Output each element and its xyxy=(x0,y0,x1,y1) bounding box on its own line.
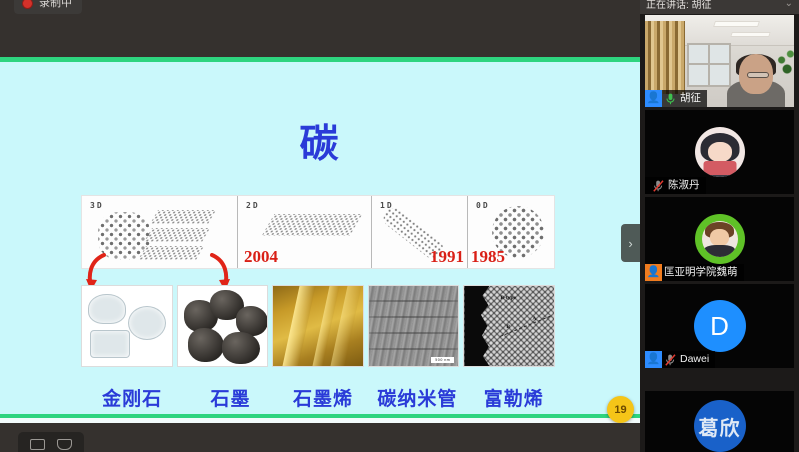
active-speaker-label: 正在讲话: 胡征 xyxy=(646,1,712,11)
participant-tile[interactable]: 陈淑丹 xyxy=(645,110,794,194)
participant-tile[interactable]: 👤 匡亚明学院魏萌 xyxy=(645,197,794,281)
dimension-cell-0d: 0D 1985 xyxy=(468,196,554,268)
person-icon: 👤 xyxy=(645,264,662,281)
graphite-sheet-icon xyxy=(138,246,204,260)
diamond-photo xyxy=(81,285,173,367)
avatar xyxy=(695,214,745,264)
dimension-tag-3d: 3D xyxy=(90,201,104,210)
participant-name: 陈淑丹 xyxy=(666,180,706,191)
participant-tile[interactable]: 葛欣 xyxy=(645,391,794,452)
participant-tile[interactable]: D 👤 Dawei xyxy=(645,284,794,368)
person-icon: 👤 xyxy=(645,351,662,368)
participant-name: Dawei xyxy=(678,354,715,365)
avatar-initial: D xyxy=(710,311,729,342)
active-speaker-bar: 正在讲话: 胡征 ⌄ xyxy=(640,0,799,14)
toolbar-controls-group[interactable] xyxy=(18,432,84,452)
participant-name-badge: 👤 胡征 xyxy=(645,90,707,107)
recording-indicator[interactable]: 录制中 xyxy=(14,0,82,14)
person-icon: 👤 xyxy=(645,90,662,107)
discovery-year-2d: 2004 xyxy=(244,247,278,267)
participant-name-badge: 👤 匡亚明学院魏萌 xyxy=(645,264,744,281)
fullerene-stm-image: B-type B A xyxy=(463,285,555,367)
microphone-icon[interactable] xyxy=(57,439,72,450)
dimension-tag-2d: 2D xyxy=(246,201,260,210)
stm-label-b: B xyxy=(506,324,510,330)
graphene-afm-image xyxy=(272,285,364,367)
discovery-year-1d: 1991 xyxy=(430,247,464,267)
collapse-panel-button[interactable]: › xyxy=(621,224,640,262)
avatar: D xyxy=(694,300,746,352)
microphone-muted-icon xyxy=(662,354,678,366)
microphone-muted-icon xyxy=(650,180,666,192)
graphene-sheet-icon xyxy=(262,214,363,236)
participant-name-badge: 陈淑丹 xyxy=(645,177,706,194)
avatar: 葛欣 xyxy=(694,400,746,452)
graphite-sheet-icon xyxy=(150,210,216,224)
avatar-initial: 葛欣 xyxy=(699,412,741,441)
participant-name: 匡亚明学院魏萌 xyxy=(662,267,744,278)
meeting-toolbar xyxy=(0,423,640,452)
material-label-fullerene: 富勒烯 xyxy=(467,384,561,411)
recording-dot-icon xyxy=(22,0,33,9)
meeting-window: 录制中 碳 3D 2D 2004 xyxy=(0,0,799,452)
participant-tile[interactable]: 👤 胡征 xyxy=(645,15,794,107)
material-photo-strip: 500 nm B-type B A xyxy=(81,285,555,367)
avatar xyxy=(695,127,745,177)
carbon-nanotube-sem-image: 500 nm xyxy=(368,285,460,367)
participant-panel: 正在讲话: 胡征 ⌄ xyxy=(640,0,799,452)
material-label-row: 金刚石 石墨 石墨烯 碳纳米管 富勒烯 xyxy=(81,382,561,412)
slide-title: 碳 xyxy=(0,125,640,164)
slide-top-accent-bar xyxy=(0,57,640,62)
carbon-dimensionality-figure: 3D 2D 2004 1D 1991 0D xyxy=(81,195,555,269)
sem-scale-bar-label: 500 nm xyxy=(431,357,454,363)
shared-screen-area: 录制中 碳 3D 2D 2004 xyxy=(0,0,640,452)
material-label-diamond: 金刚石 xyxy=(81,384,183,411)
graphite-photo xyxy=(177,285,269,367)
participant-name: 胡征 xyxy=(678,93,707,104)
chevron-right-icon: › xyxy=(628,236,632,251)
video-camera-icon[interactable] xyxy=(30,439,45,450)
microphone-unmuted-icon xyxy=(662,93,678,105)
stm-label-btype: B-type xyxy=(500,295,516,301)
discovery-year-0d: 1985 xyxy=(471,247,505,267)
dimension-cell-1d: 1D 1991 xyxy=(372,196,468,268)
slide-page-number-badge: 19 xyxy=(607,396,634,423)
dimension-cell-2d: 2D 2004 xyxy=(238,196,372,268)
material-label-nanotube: 碳纳米管 xyxy=(368,384,466,411)
recording-label: 录制中 xyxy=(39,0,72,9)
graphite-sheet-icon xyxy=(144,228,210,242)
stm-dark-region xyxy=(464,286,489,366)
chevron-down-icon[interactable]: ⌄ xyxy=(785,0,793,9)
dimension-tag-0d: 0D xyxy=(476,201,490,210)
presentation-slide: 碳 3D 2D 2004 1D 1991 xyxy=(0,57,640,423)
material-label-graphite: 石墨 xyxy=(183,384,277,411)
material-label-graphene: 石墨烯 xyxy=(278,384,368,411)
participant-name-badge: 👤 Dawei xyxy=(645,351,715,368)
